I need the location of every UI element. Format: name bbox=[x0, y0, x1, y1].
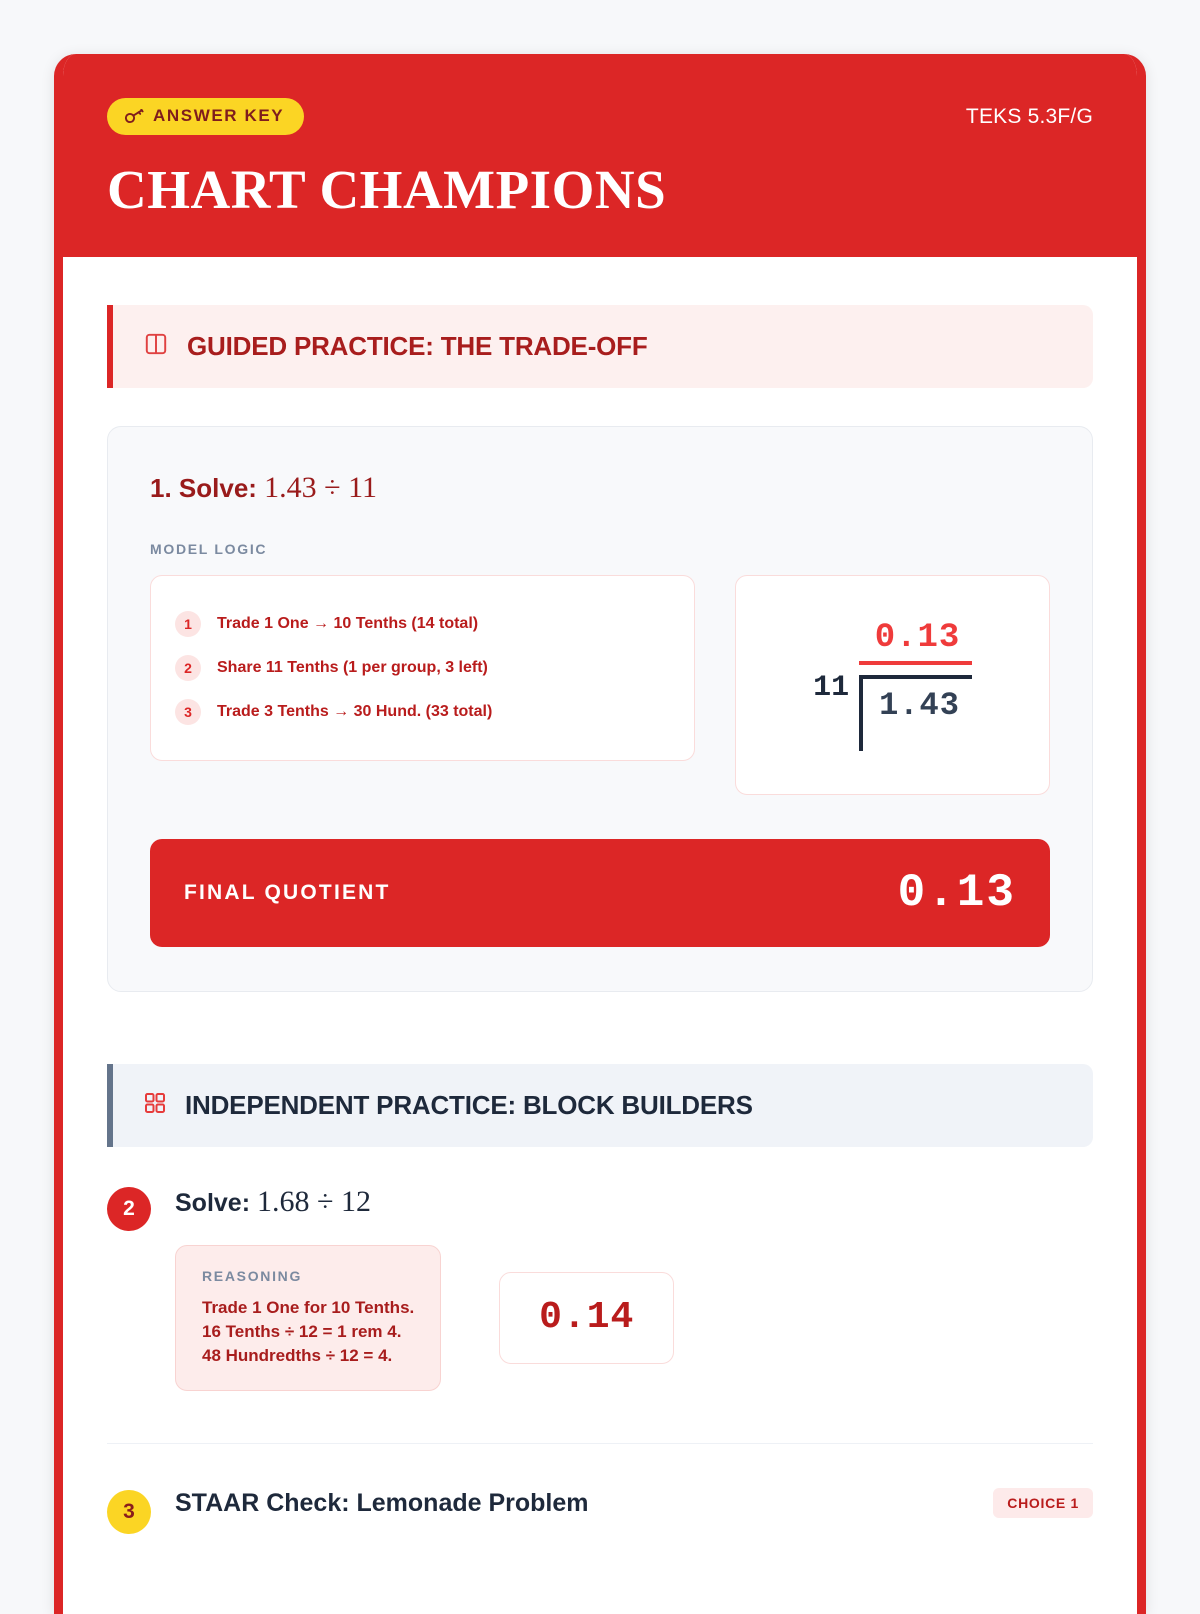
reasoning-line: Trade 1 One for 10 Tenths. bbox=[202, 1296, 414, 1320]
problem-3-title: STAAR Check: Lemonade Problem bbox=[175, 1489, 589, 1518]
teks-standard-label: TEKS 5.3F/G bbox=[966, 105, 1093, 129]
section-header-independent-practice: INDEPENDENT PRACTICE: BLOCK BUILDERS bbox=[107, 1064, 1093, 1147]
long-division-figure: 11 0.13 1.43 bbox=[813, 619, 972, 751]
key-icon bbox=[125, 109, 144, 124]
problem-3-header: STAAR Check: Lemonade Problem CHOICE 1 bbox=[175, 1488, 1093, 1518]
step-number: 2 bbox=[175, 655, 201, 681]
long-division-box: 11 0.13 1.43 bbox=[735, 575, 1050, 795]
step-number: 3 bbox=[175, 699, 201, 725]
problem-3-choice-badge: CHOICE 1 bbox=[993, 1488, 1093, 1518]
step-text: Share 11 Tenths (1 per group, 3 left) bbox=[217, 659, 488, 677]
problem-3-body: STAAR Check: Lemonade Problem CHOICE 1 bbox=[175, 1488, 1093, 1534]
reasoning-line: 16 Tenths ÷ 12 = 1 rem 4. bbox=[202, 1320, 414, 1344]
problem-2-expression: 1.68 ÷ 12 bbox=[257, 1185, 371, 1218]
problem-2-answer-row: REASONING Trade 1 One for 10 Tenths. 16 … bbox=[175, 1245, 1093, 1391]
long-division-quotient: 0.13 bbox=[859, 619, 972, 665]
long-division-dividend: 1.43 bbox=[879, 687, 960, 724]
answer-key-badge: ANSWER KEY bbox=[107, 98, 304, 135]
worksheet-page: ANSWER KEY TEKS 5.3F/G CHART CHAMPIONS G… bbox=[54, 54, 1146, 1614]
problem-1-card: 1. Solve: 1.43 ÷ 11 MODEL LOGIC 1 Trade … bbox=[107, 426, 1093, 992]
section-header-guided-practice: GUIDED PRACTICE: THE TRADE-OFF bbox=[107, 305, 1093, 388]
problem-2-title-prefix: Solve: bbox=[175, 1189, 250, 1217]
model-logic-label: MODEL LOGIC bbox=[150, 541, 1050, 557]
long-division-divisor: 11 bbox=[813, 619, 859, 705]
list-item: 3 Trade 3 Tenths → 30 Hund. (33 total) bbox=[175, 690, 670, 734]
step-text: Trade 3 Tenths → 30 Hund. (33 total) bbox=[217, 703, 492, 721]
problem-3-number: 3 bbox=[107, 1490, 151, 1534]
page-body: GUIDED PRACTICE: THE TRADE-OFF 1. Solve:… bbox=[63, 257, 1137, 1578]
problem-2-body: Solve: 1.68 ÷ 12 REASONING Trade 1 One f… bbox=[175, 1185, 1093, 1391]
long-division-bracket: 1.43 bbox=[859, 675, 972, 751]
problem-2-title: Solve: 1.68 ÷ 12 bbox=[175, 1185, 371, 1219]
problem-2-answer-box: 0.14 bbox=[499, 1272, 674, 1364]
list-item: 1 Trade 1 One → 10 Tenths (14 total) bbox=[175, 602, 670, 646]
page-header: ANSWER KEY TEKS 5.3F/G CHART CHAMPIONS bbox=[63, 54, 1137, 257]
answer-key-badge-label: ANSWER KEY bbox=[153, 106, 284, 126]
problem-1-title-prefix: 1. Solve: bbox=[150, 473, 257, 503]
step-number: 1 bbox=[175, 611, 201, 637]
final-quotient-label: FINAL QUOTIENT bbox=[184, 881, 391, 905]
problem-divider bbox=[107, 1443, 1093, 1444]
problem-3: 3 STAAR Check: Lemonade Problem CHOICE 1 bbox=[107, 1488, 1093, 1578]
step-text: Trade 1 One → 10 Tenths (14 total) bbox=[217, 615, 478, 633]
model-logic-steps: 1 Trade 1 One → 10 Tenths (14 total) 2 S… bbox=[150, 575, 695, 761]
reasoning-label: REASONING bbox=[202, 1268, 414, 1284]
problem-2-reasoning-box: REASONING Trade 1 One for 10 Tenths. 16 … bbox=[175, 1245, 441, 1391]
list-item: 2 Share 11 Tenths (1 per group, 3 left) bbox=[175, 646, 670, 690]
problem-1-expression: 1.43 ÷ 11 bbox=[264, 471, 377, 504]
long-division-right: 0.13 1.43 bbox=[859, 619, 972, 751]
model-logic-column: 1 Trade 1 One → 10 Tenths (14 total) 2 S… bbox=[150, 575, 695, 761]
problem-2-number: 2 bbox=[107, 1187, 151, 1231]
final-quotient-bar: FINAL QUOTIENT 0.13 bbox=[150, 839, 1050, 947]
problem-2-header: Solve: 1.68 ÷ 12 bbox=[175, 1185, 1093, 1219]
section-title-independent: INDEPENDENT PRACTICE: BLOCK BUILDERS bbox=[185, 1090, 753, 1121]
header-top-row: ANSWER KEY TEKS 5.3F/G bbox=[107, 98, 1093, 135]
problem-1-title: 1. Solve: 1.43 ÷ 11 bbox=[150, 471, 1050, 505]
problem-2: 2 Solve: 1.68 ÷ 12 REASONING Trade 1 One… bbox=[107, 1185, 1093, 1435]
page-title: CHART CHAMPIONS bbox=[107, 161, 1093, 219]
problem-1-content-row: 1 Trade 1 One → 10 Tenths (14 total) 2 S… bbox=[150, 575, 1050, 795]
section-title-guided: GUIDED PRACTICE: THE TRADE-OFF bbox=[187, 331, 648, 362]
reasoning-line: 48 Hundredths ÷ 12 = 4. bbox=[202, 1344, 414, 1368]
book-columns-icon bbox=[143, 331, 169, 362]
grid-blocks-icon bbox=[143, 1091, 167, 1120]
final-quotient-value: 0.13 bbox=[898, 867, 1016, 919]
